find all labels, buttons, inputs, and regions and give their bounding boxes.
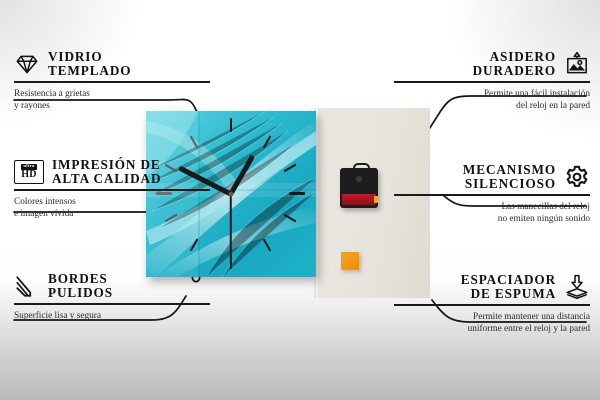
feature-mecanismo-silencioso: MECANISMO SILENCIOSO Las manecillas del … — [394, 163, 590, 225]
gear-icon — [564, 164, 590, 190]
feature-description: Permite una fácil instalación del reloj … — [394, 88, 590, 113]
feature-title-line1: IMPRESIÓN DE — [52, 158, 161, 172]
clock-mechanism — [340, 168, 378, 208]
feature-espaciador-espuma: ESPACIADOR DE ESPUMA Permite mantener un… — [394, 273, 590, 335]
battery — [342, 194, 376, 205]
feature-asidero-duradero: ASIDERO DURADERO Permite una fácil insta… — [394, 50, 590, 112]
foam-spacer — [341, 252, 359, 270]
feature-title-line2: PULIDOS — [48, 286, 113, 300]
feature-title-line2: DE ESPUMA — [471, 287, 556, 301]
feature-title-line2: ALTA CALIDAD — [52, 172, 161, 186]
feature-bordes-pulidos: BORDES PULIDOS Superficie lisa y segura — [14, 272, 210, 322]
clock-center-pin — [229, 192, 234, 197]
hanging-picture-icon — [564, 51, 590, 77]
ultra-hd-main-text: HD — [21, 170, 36, 180]
feature-title-line1: ASIDERO — [490, 50, 556, 64]
feature-description: Superficie lisa y segura — [14, 310, 210, 322]
feature-title-line2: TEMPLADO — [48, 64, 131, 78]
feature-divider — [394, 81, 590, 83]
feature-description: Colores intensos e imagen vívida — [14, 196, 210, 221]
feature-title-line2: DURADERO — [473, 64, 556, 78]
polished-edges-icon — [14, 273, 40, 299]
clock-second-hand — [230, 194, 232, 264]
feature-description: Permite mantener una distancia uniforme … — [394, 311, 590, 336]
mechanism-shaft — [356, 176, 362, 182]
mechanism-hook-icon — [353, 163, 370, 173]
feature-title-line2: SILENCIOSO — [465, 177, 556, 191]
feature-description: Resistencia a grietas y rayones — [14, 88, 210, 113]
feature-title-line1: ESPACIADOR — [461, 273, 556, 287]
feature-title-line1: BORDES — [48, 272, 113, 286]
feature-divider — [394, 304, 590, 306]
feature-impresion-alta-calidad: ultra HD IMPRESIÓN DE ALTA CALIDAD Color… — [14, 158, 210, 220]
ultra-hd-icon: ultra HD — [14, 160, 44, 184]
feature-description: Las manecillas del reloj no emiten ningú… — [394, 201, 590, 226]
feature-divider — [14, 189, 210, 191]
feature-divider — [14, 81, 210, 83]
foam-spacer-icon — [564, 274, 590, 300]
feature-title-line1: VIDRIO — [48, 50, 131, 64]
feature-divider — [14, 303, 210, 305]
clock-tick — [289, 192, 305, 195]
diamond-icon — [14, 51, 40, 77]
feature-divider — [394, 194, 590, 196]
feature-title-line1: MECANISMO — [463, 163, 556, 177]
feature-vidrio-templado: VIDRIO TEMPLADO Resistencia a grietas y … — [14, 50, 210, 112]
infographic-canvas: VIDRIO TEMPLADO Resistencia a grietas y … — [0, 0, 600, 400]
